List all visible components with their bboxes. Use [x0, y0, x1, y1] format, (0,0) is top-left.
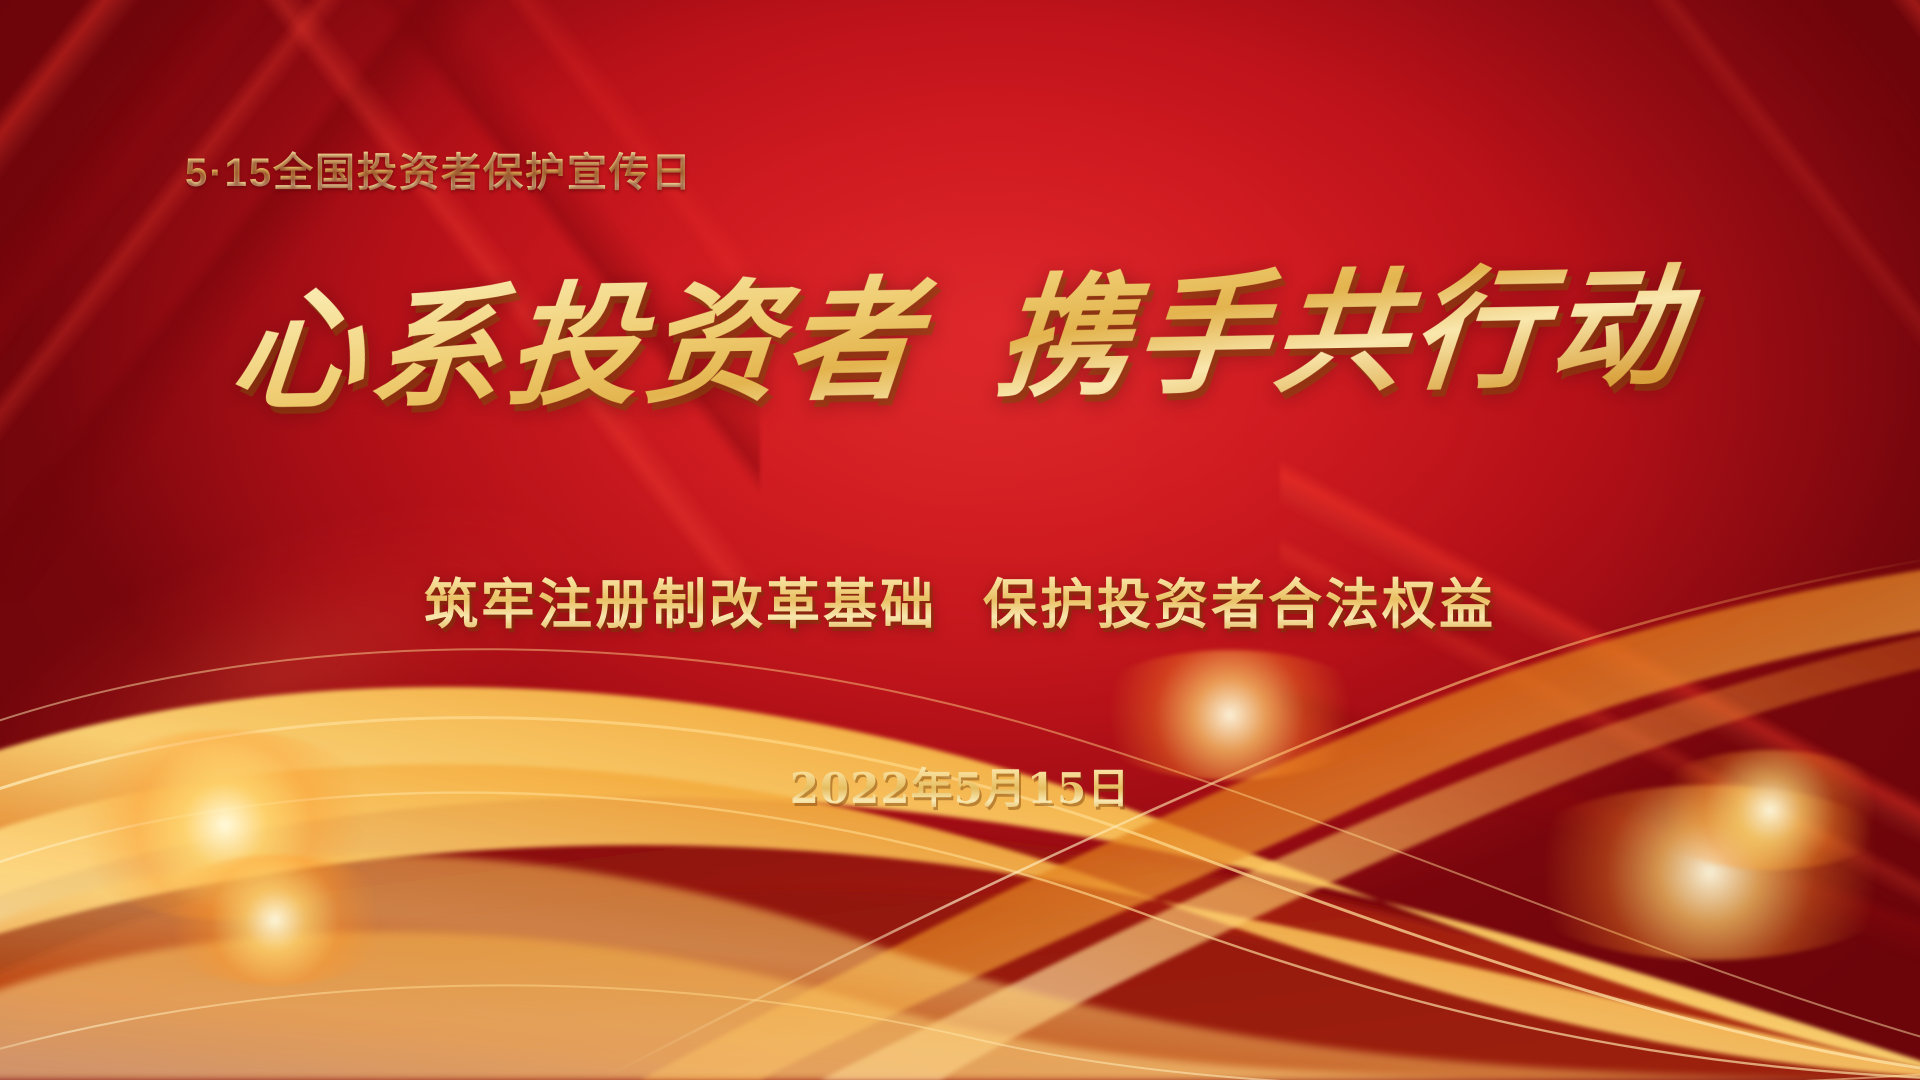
subtitle-phrase-right: 保护投资者合法权益	[983, 575, 1496, 635]
headline-phrase-left: 心系投资者	[225, 263, 930, 430]
subtitle-line: 筑牢注册制改革基础保护投资者合法权益	[0, 560, 1920, 639]
headline-phrase-right: 携手共行动	[990, 249, 1695, 416]
main-headline: 心系投资者携手共行动	[0, 245, 1920, 434]
event-kicker: 5·15全国投资者保护宣传日	[185, 140, 693, 198]
event-date: 2022年5月15日	[0, 755, 1920, 816]
poster-content: 5·15全国投资者保护宣传日 心系投资者携手共行动 筑牢注册制改革基础保护投资者…	[0, 0, 1920, 1080]
headline-gap	[919, 384, 993, 385]
subtitle-phrase-left: 筑牢注册制改革基础	[424, 575, 937, 635]
poster-canvas: 5·15全国投资者保护宣传日 心系投资者携手共行动 筑牢注册制改革基础保护投资者…	[0, 0, 1920, 1080]
